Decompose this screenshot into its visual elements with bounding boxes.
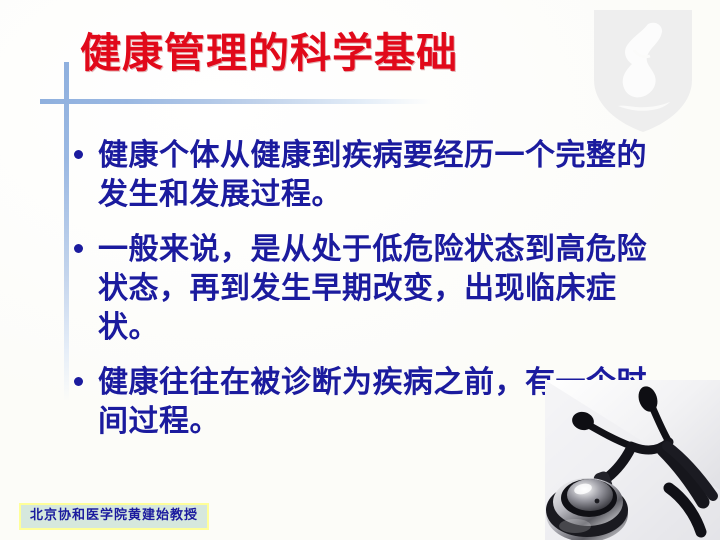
bullet-dot-icon — [74, 150, 83, 159]
page-title: 健康管理的科学基础 — [80, 33, 458, 74]
slide-canvas: 健康管理的科学基础 健康个体从健康到疾病要经历一个完整的发生和发展过程。 一般来… — [0, 0, 720, 540]
shield-crest-watermark-icon — [588, 6, 698, 134]
bullet-dot-icon — [74, 244, 83, 253]
bullet-list: 健康个体从健康到疾病要经历一个完整的发生和发展过程。 一般来说，是从处于低危险状… — [68, 136, 663, 441]
horizontal-rule-decoration — [40, 99, 430, 104]
list-item-text: 一般来说，是从处于低危险状态到高危险状态，再到发生早期改变，出现临床症状。 — [98, 230, 663, 347]
list-item-text: 健康往往在被诊断为疾病之前，有一个时间过程。 — [98, 363, 663, 441]
list-item: 健康个体从健康到疾病要经历一个完整的发生和发展过程。 — [68, 136, 663, 214]
list-item: 一般来说，是从处于低危险状态到高危险状态，再到发生早期改变，出现临床症状。 — [68, 230, 663, 347]
bullet-dot-icon — [74, 377, 83, 386]
footer-credit-label: 北京协和医学院黄建始教授 — [19, 503, 209, 530]
list-item-text: 健康个体从健康到疾病要经历一个完整的发生和发展过程。 — [98, 136, 663, 214]
list-item: 健康往往在被诊断为疾病之前，有一个时间过程。 — [68, 363, 663, 441]
